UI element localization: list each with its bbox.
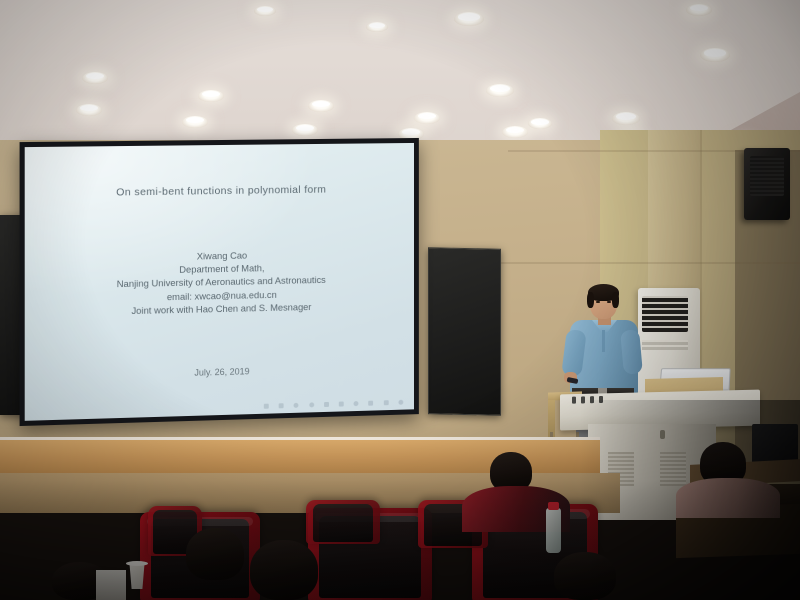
lectern-switch-1[interactable]: [572, 397, 576, 404]
page-prev-icon[interactable]: [324, 402, 329, 407]
ceiling-light-icon: [528, 118, 552, 129]
ceiling-light-icon: [486, 84, 514, 97]
presenter-eye-left: [596, 301, 600, 303]
ceiling-light-icon: [254, 6, 276, 16]
zoom-out-icon[interactable]: [294, 403, 299, 408]
wall-speaker-icon: [744, 148, 790, 220]
save-icon[interactable]: [264, 404, 269, 409]
pdf-viewer-toolbar[interactable]: [259, 398, 408, 411]
ceiling-light-icon: [182, 116, 208, 128]
lectern-control-buttons[interactable]: [572, 394, 628, 404]
handout-paper: [96, 570, 126, 600]
ceiling-light-icon: [612, 112, 640, 125]
ceiling-light-icon: [686, 4, 712, 16]
ceiling-light-icon: [198, 90, 224, 102]
print-icon[interactable]: [279, 403, 284, 408]
presenter-eye-right: [607, 301, 611, 303]
wall-seam: [500, 262, 800, 264]
water-bottle: [546, 508, 561, 553]
blackboard-right: [428, 247, 501, 416]
fit-page-icon[interactable]: [354, 401, 359, 406]
sidebar-icon[interactable]: [383, 400, 388, 405]
lectern-vent-right: [660, 452, 686, 486]
audience-head: [554, 552, 616, 600]
ceiling-light-icon: [82, 72, 108, 84]
ceiling-light-icon: [454, 12, 484, 26]
page-next-icon[interactable]: [339, 401, 344, 406]
ceiling-light-icon: [700, 48, 730, 62]
seat-cushion: [313, 504, 374, 543]
presenter-hair-side-left: [587, 292, 594, 308]
water-bottle-cap: [548, 502, 559, 510]
ac-vent-louvers: [642, 296, 688, 332]
ceiling-light-icon: [366, 22, 388, 32]
speaker-grille: [750, 156, 784, 196]
slide-date: July. 26, 2019: [25, 362, 414, 382]
lectern-lock-icon: [660, 430, 665, 439]
search-icon[interactable]: [369, 401, 374, 406]
audience-head: [250, 540, 318, 600]
ceiling-light-icon: [76, 104, 102, 116]
paper-cup-rim: [126, 561, 148, 566]
lectern-switch-2[interactable]: [581, 396, 585, 403]
fullscreen-icon[interactable]: [398, 400, 403, 405]
lectern-switch-4[interactable]: [599, 396, 603, 403]
audience-shoulders: [676, 478, 780, 518]
lecture-hall-photo: On semi-bent functions in polynomial for…: [0, 0, 800, 600]
desktop-monitor: [752, 424, 798, 464]
auditorium-seat: [306, 500, 380, 544]
slide-author-block: Xiwang Cao Department of Math, Nanjing U…: [25, 246, 414, 320]
ceiling-light-icon: [292, 124, 318, 136]
lectern-switch-3[interactable]: [590, 396, 594, 403]
ceiling-light-icon: [502, 126, 528, 138]
projection-screen-frame: On semi-bent functions in polynomial for…: [20, 138, 419, 426]
presenter-right-arm: [620, 329, 643, 374]
projection-screen: On semi-bent functions in polynomial for…: [25, 143, 414, 421]
presenter-hair-side-right: [612, 292, 619, 308]
ac-lower-grille: [642, 340, 688, 350]
ceiling-light-icon: [308, 100, 334, 112]
ceiling-light-icon: [414, 112, 440, 124]
presenter-placket: [602, 330, 605, 352]
audience-head: [186, 528, 244, 580]
zoom-in-icon[interactable]: [309, 402, 314, 407]
